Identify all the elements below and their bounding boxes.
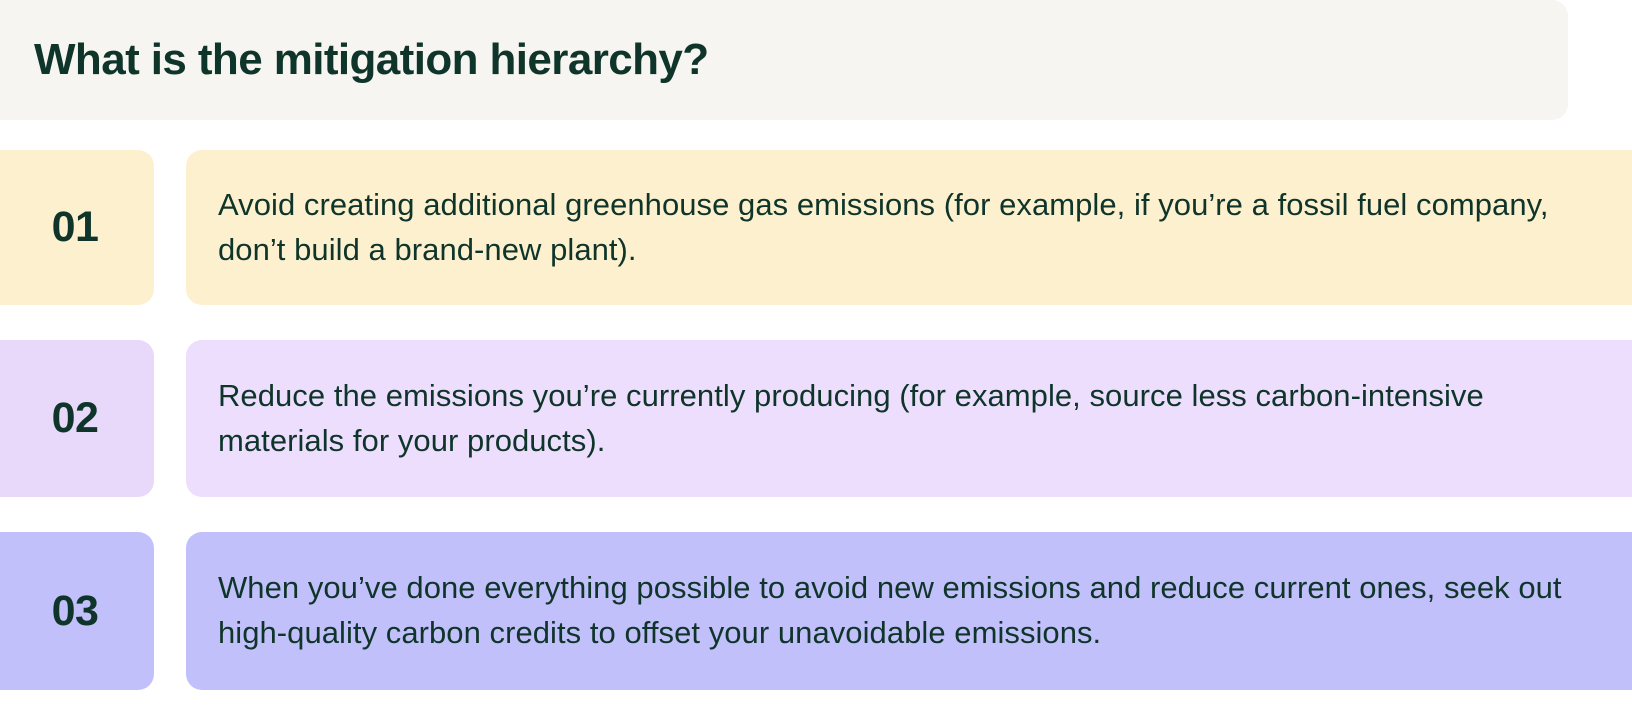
header-bar: What is the mitigation hierarchy?: [0, 0, 1568, 120]
step-description-text: Reduce the emissions you’re currently pr…: [186, 374, 1632, 464]
step-description-panel: Reduce the emissions you’re currently pr…: [186, 340, 1632, 497]
step-number-badge: 02: [0, 340, 154, 497]
step-number-label: 01: [38, 203, 99, 252]
step-description-text: Avoid creating additional greenhouse gas…: [186, 183, 1632, 273]
mitigation-hierarchy-infographic: What is the mitigation hierarchy? 01 Avo…: [0, 0, 1632, 710]
page-title: What is the mitigation hierarchy?: [34, 36, 709, 84]
step-description-panel: Avoid creating additional greenhouse gas…: [186, 150, 1632, 305]
step-number-label: 02: [38, 394, 99, 443]
step-row: 03 When you’ve done everything possible …: [0, 532, 1632, 690]
step-description-text: When you’ve done everything possible to …: [186, 566, 1632, 656]
step-description-panel: When you’ve done everything possible to …: [186, 532, 1632, 690]
step-row: 02 Reduce the emissions you’re currently…: [0, 340, 1632, 497]
step-number-badge: 03: [0, 532, 154, 690]
step-row: 01 Avoid creating additional greenhouse …: [0, 150, 1632, 305]
step-number-label: 03: [38, 587, 99, 636]
step-number-badge: 01: [0, 150, 154, 305]
